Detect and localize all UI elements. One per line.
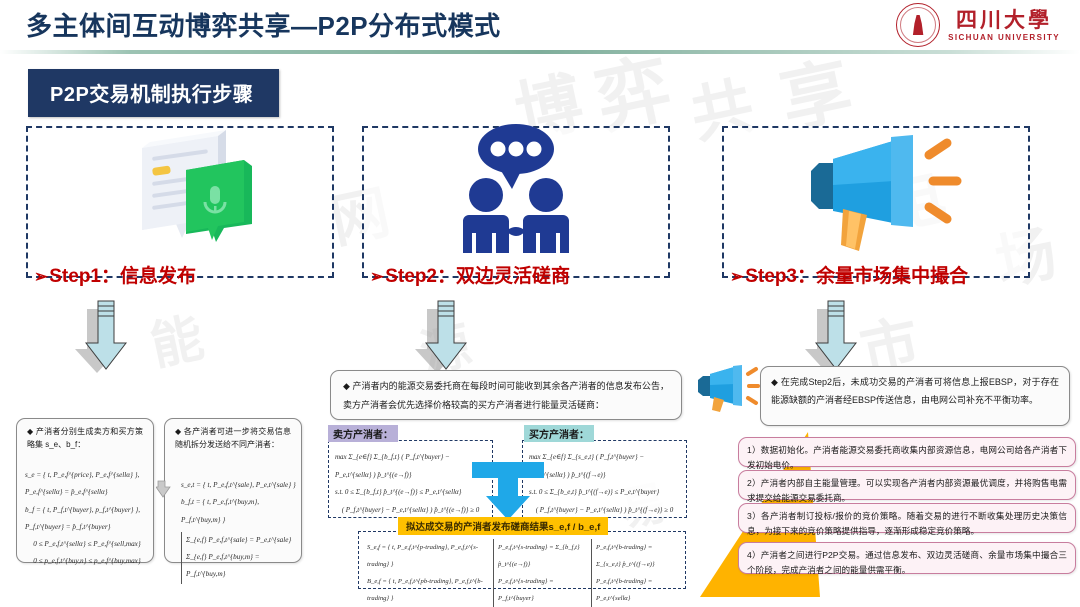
step-bullet-arrow-icon: ➢ xyxy=(730,267,744,286)
callout-3-num: 3） xyxy=(747,511,761,521)
callout-4-text: 4）产消者之间进行P2P交易。通过信息发布、双边灵活磋商、余量市场集中撮合三个阶… xyxy=(739,543,1075,583)
tag-negotiation-result: 拟达成交易的产消者发布磋商结果s_e,f / b_e,f xyxy=(398,517,608,535)
university-logo: 四川大學 SICHUAN UNIVERSITY xyxy=(896,3,1060,47)
callout-2-num: 2） xyxy=(747,478,761,488)
left-note-a-text: ◆ 产消者分别生成卖方和买方策略集 s_e、b_f： xyxy=(17,419,153,459)
formula-line: max Σ_{e∈f} Σ_{b_f,t} ( P_f,t^{buyer} − … xyxy=(335,449,486,484)
header-divider xyxy=(0,50,1080,54)
right-note-text: ◆ 在完成Step2后，未成功交易的产消者可将信息上报EBSP，对于存在能源缺额… xyxy=(761,367,1069,416)
callout-4-num: 4） xyxy=(747,550,761,560)
formula-line: Σ_{e,f} P_e,f,t^{sale} = P_e,t^{sale} xyxy=(181,532,299,549)
formula-line: B_e,f = { t, P_e,f,t^{pb-trading}, P_e,f… xyxy=(367,573,487,607)
step-3-text: Step3：余量市场集中撮合 xyxy=(745,266,968,287)
formula-line: 0 ≤ P_e,f,t^{sellα} ≤ P_e,f^{sell,max} xyxy=(25,536,149,553)
tag-seller-prosumer: 卖方产消者： xyxy=(328,425,398,442)
formula-line: P_e,f,t^{b-trading} = Σ_{s_e,t} p̂_t^{(f… xyxy=(596,539,677,573)
left-note-b-text: ◆ 各产消者可进一步将交易信息随机拆分发送给不同产消者： xyxy=(165,419,301,459)
callout-3: 3）各产消者制订投标/报价的竞价策略。随着交易的进行不断收集处理历史决策信息，为… xyxy=(738,503,1076,533)
document-voice-message-icon xyxy=(28,134,332,242)
step-1-text: Step1：信息发布 xyxy=(49,266,196,287)
callout-1: 1）数据初始化。产消者能源交易委托商收集内部资源信息，电网公司给各产消者下发初始… xyxy=(738,437,1076,467)
result-formula-box: S_e,f = { t, P_e,f,t^{p-trading}, P_e,f,… xyxy=(358,531,686,589)
section-banner: P2P交易机制执行步骤 xyxy=(28,69,279,117)
step-card-1: ➢Step1：信息发布 xyxy=(26,126,334,278)
slide-root: 博 弈 共 享 网 电 能 源 市 场 交 易 多主体间互动博弈共享—P2P分布… xyxy=(0,0,1080,607)
tag-buyer-prosumer: 买方产消者： xyxy=(524,425,594,442)
left-note-b: ◆ 各产消者可进一步将交易信息随机拆分发送给不同产消者： s_e,t = { t… xyxy=(164,418,302,563)
down-arrow-icon-1 xyxy=(75,297,145,384)
formula-line: s_e,t = { t, P_e,f,t^{sale}, P_e,t^{sale… xyxy=(181,477,299,494)
step-card-3: ➢Step3：余量市场集中撮合 xyxy=(722,126,1030,278)
formula-line: s.t. 0 ≤ Σ_{b_f,t} p̂_t^{(e→f)} ≤ P_e,t^… xyxy=(335,484,486,502)
step-2-label: ➢Step2：双边灵活磋商 xyxy=(370,261,570,288)
formula-line: P_e,f,t^{s-trading} = Σ_{b_f,t} p̂_t^{(e… xyxy=(498,539,585,573)
logo-name-en: SICHUAN UNIVERSITY xyxy=(948,33,1060,42)
mid-note-text: ◆ 产消者内的能源交易委托商在每段时间可能收到其余各产消者的信息发布公告，卖方产… xyxy=(331,371,681,421)
formula-line: P_e,f,t^{b-trading} = P_e,t^{sellα} xyxy=(596,573,677,607)
step-2-text: Step2：双边灵活磋商 xyxy=(385,266,570,287)
step-3-label: ➢Step3：余量市场集中撮合 xyxy=(730,261,968,288)
logo-name-cn: 四川大學 xyxy=(956,8,1052,31)
university-seal-icon xyxy=(896,3,940,47)
formula-line: P_e,f,t^{s-trading} = P_f,t^{buyer} xyxy=(498,573,585,607)
formula-line: Σ_{e,f} P_e,f,t^{buy,m} = P_f,t^{buy,m} xyxy=(181,549,299,584)
callout-2-body: 产消者内部自主能量管理。可以实现各产消者内部资源最优调度，并将购售电需求提交给能… xyxy=(747,478,1067,503)
slide-header: 多主体间互动博弈共享—P2P分布式模式 四川大學 SICHUAN UNIVERS… xyxy=(0,0,1080,52)
right-note: ◆ 在完成Step2后，未成功交易的产消者可将信息上报EBSP，对于存在能源缺额… xyxy=(760,366,1070,426)
step-bullet-arrow-icon: ➢ xyxy=(34,267,48,286)
step-1-label: ➢Step1：信息发布 xyxy=(34,261,196,288)
mid-note: ◆ 产消者内的能源交易委托商在每段时间可能收到其余各产消者的信息发布公告，卖方产… xyxy=(330,370,682,420)
callout-4: 4）产消者之间进行P2P交易。通过信息发布、双边灵活磋商、余量市场集中撮合三个阶… xyxy=(738,542,1076,574)
callout-1-num: 1） xyxy=(747,445,761,455)
formula-line: 0 ≤ p_e,f,t^{buy,n} ≤ p_e,f^{buy,max} xyxy=(25,553,149,570)
callout-3-text: 3）各产消者制订投标/报价的竞价策略。随着交易的进行不断收集处理历史决策信息，为… xyxy=(739,504,1075,544)
step-bullet-arrow-icon: ➢ xyxy=(370,267,384,286)
callout-1-body: 数据初始化。产消者能源交易委托商收集内部资源信息，电网公司给各产消者下发初始电价… xyxy=(747,445,1067,470)
two-people-negotiation-icon xyxy=(364,134,668,242)
formula-line: b_f,t = { t, P_e,f,t^{buy,m}, P_f,t^{buy… xyxy=(181,494,299,529)
formula-line: s_e = { t, P_e,f^{price}, P_e,f^{sellα} … xyxy=(25,467,149,502)
callout-2: 2）产消者内部自主能量管理。可以实现各产消者内部资源最优调度，并将购售电需求提交… xyxy=(738,470,1076,500)
page-title: 多主体间互动博弈共享—P2P分布式模式 xyxy=(26,6,501,43)
formula-line: b_f = { t, P_f,t^{buyer}, p_f,t^{buyer} … xyxy=(25,502,149,537)
step-card-2: ➢Step2：双边灵活磋商 xyxy=(362,126,670,278)
formula-line: S_e,f = { t, P_e,f,t^{p-trading}, P_e,f,… xyxy=(367,539,487,573)
formula-line: max Σ_{e∈f} Σ_{s_e,t} ( P_f,t^{buyer} − … xyxy=(529,449,680,484)
left-connector-arrow-icon xyxy=(156,478,172,505)
callout-3-body: 各产消者制订投标/报价的竞价策略。随着交易的进行不断收集处理历史决策信息，为接下… xyxy=(747,511,1067,536)
mini-megaphone-icon xyxy=(694,362,760,417)
left-note-a: ◆ 产消者分别生成卖方和买方策略集 s_e、b_f： s_e = { t, P_… xyxy=(16,418,154,563)
formula-line: s.t. 0 ≤ Σ_{b_e,t} p̂_t^{(f→e)} ≤ P_e,t^… xyxy=(529,484,680,502)
megaphone-icon xyxy=(724,134,1028,242)
callout-4-body: 产消者之间进行P2P交易。通过信息发布、双边灵活磋商、余量市场集中撮合三个阶段，… xyxy=(747,550,1067,575)
